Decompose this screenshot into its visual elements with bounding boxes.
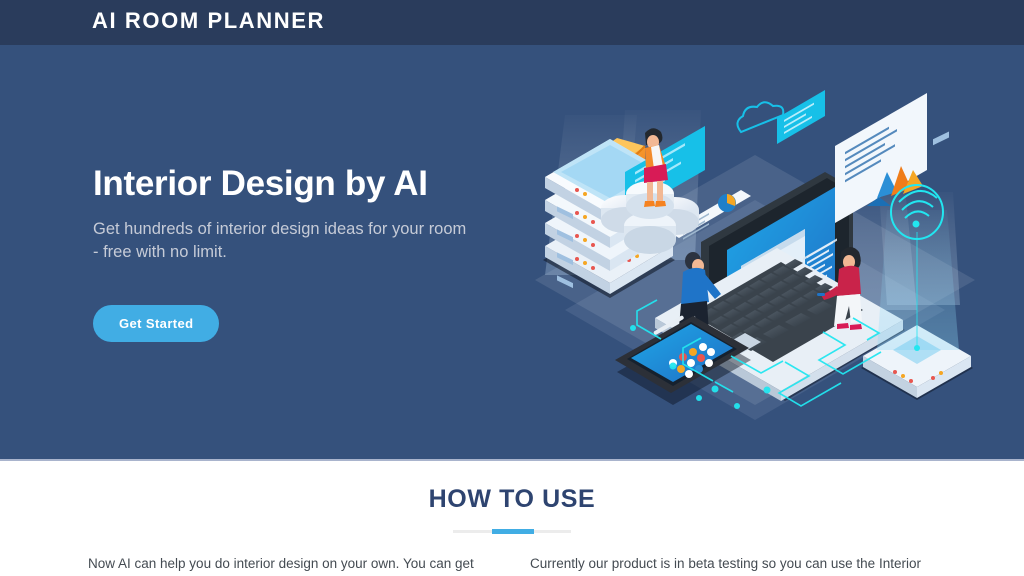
how-to-use-section: HOW TO USE Now AI can help you do interi… <box>0 461 1024 576</box>
hero-subtitle: Get hundreds of interior design ideas fo… <box>93 218 468 266</box>
hero-section: Interior Design by AI Get hundreds of in… <box>0 45 1024 461</box>
section-divider <box>453 530 571 533</box>
code-panel-top <box>777 90 825 144</box>
cloud-icon <box>737 102 783 132</box>
how-to-use-column-right: Currently our product is in beta testing… <box>530 554 936 576</box>
how-to-use-column-left: Now AI can help you do interior design o… <box>88 554 494 576</box>
get-started-button[interactable]: Get Started <box>93 305 219 342</box>
page-root: AI ROOM PLANNER Interior Design by AI Ge… <box>0 0 1024 576</box>
section-title: HOW TO USE <box>0 485 1024 514</box>
how-to-use-columns: Now AI can help you do interior design o… <box>0 554 1024 576</box>
divider-accent <box>492 529 534 534</box>
hero-illustration <box>505 60 1005 430</box>
top-navbar: AI ROOM PLANNER <box>0 0 1024 45</box>
site-logo[interactable]: AI ROOM PLANNER <box>92 8 325 34</box>
hero-title: Interior Design by AI <box>93 165 513 204</box>
hero-copy: Interior Design by AI Get hundreds of in… <box>93 165 513 342</box>
